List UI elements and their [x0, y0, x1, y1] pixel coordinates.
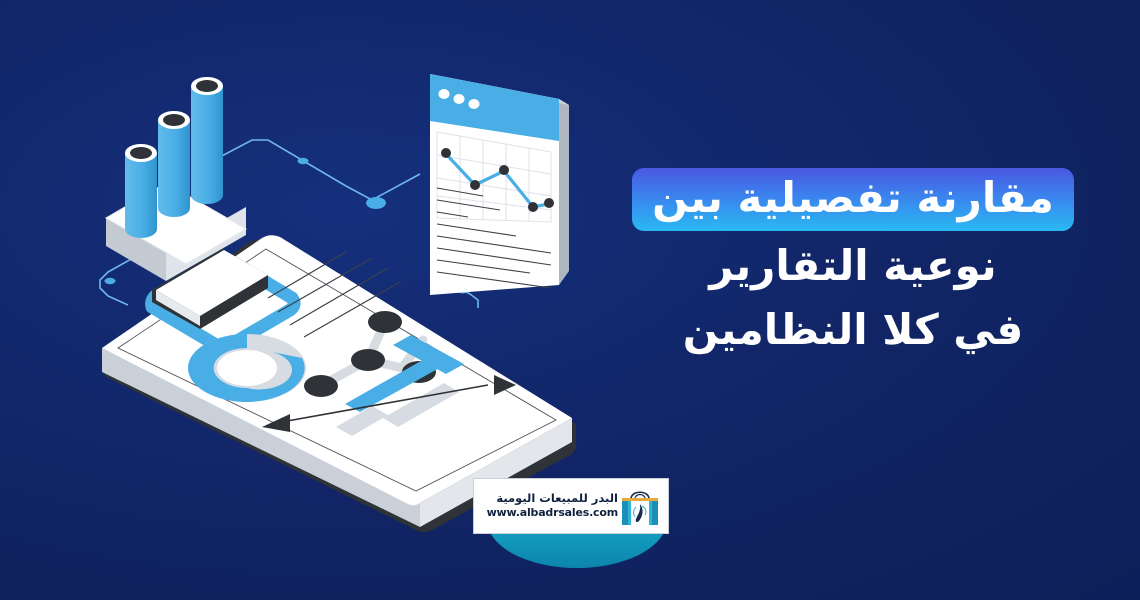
bar-cylinder-2	[158, 111, 190, 217]
logo-text: البدر للمبيعات اليومية www.albadrsales.c…	[483, 491, 618, 520]
browser-window	[430, 74, 569, 295]
logo[interactable]: البدر للمبيعات اليومية www.albadrsales.c…	[473, 478, 669, 534]
headline-line-1-badge: مقارنة تفصيلية بين	[632, 168, 1074, 231]
bar-cylinder-1	[125, 144, 157, 238]
bar-cylinder-3	[191, 77, 223, 204]
donut-chart	[188, 334, 306, 402]
promo-banner: مقارنة تفصيلية بين نوعية التقارير في كلا…	[0, 0, 1140, 600]
headline-line-2: نوعية التقارير	[618, 237, 1088, 295]
logo-title: البدر للمبيعات اليومية	[483, 491, 618, 505]
analytics-illustration	[0, 0, 620, 540]
headline-line-3: في كلا النظامين	[618, 301, 1088, 359]
logo-url: www.albadrsales.com	[483, 506, 618, 521]
headline: مقارنة تفصيلية بين نوعية التقارير في كلا…	[618, 168, 1088, 359]
shopping-bag-icon	[618, 483, 662, 529]
